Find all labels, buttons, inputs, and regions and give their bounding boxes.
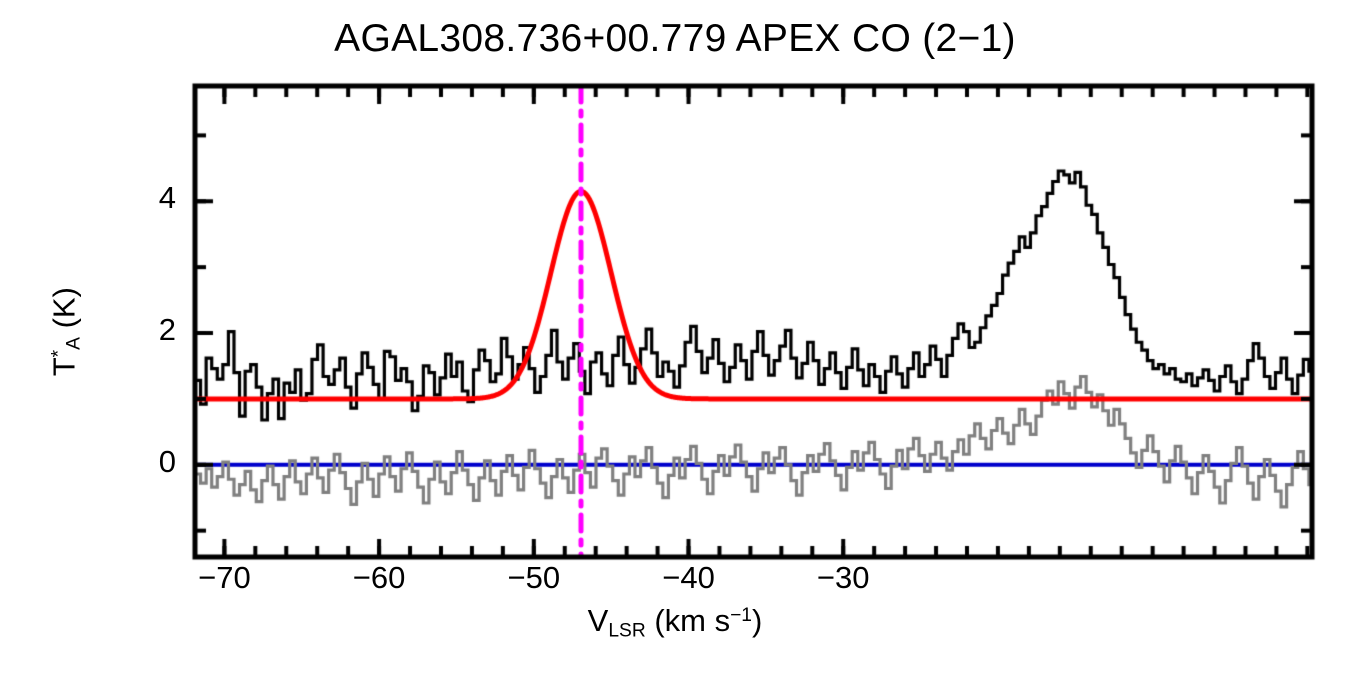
y-axis-label-subscript: A xyxy=(64,337,85,350)
x-tick-label: −60 xyxy=(309,560,449,596)
page-title: AGAL308.736+00.779 APEX CO (2−1) xyxy=(0,17,1350,61)
x-axis-label-main: V xyxy=(588,603,609,638)
y-axis-label: T*A (K) xyxy=(46,202,85,462)
x-axis-label: VLSR (km s−1) xyxy=(0,603,1350,642)
y-tick-label: 4 xyxy=(120,180,176,216)
x-axis-label-unit-pre: (km s xyxy=(646,603,730,638)
x-axis-label-unit-post: ) xyxy=(752,603,762,638)
x-tick-label: −70 xyxy=(154,560,294,596)
y-axis-label-unit: (K) xyxy=(46,287,81,337)
x-axis-label-sub: LSR xyxy=(608,620,645,641)
x-tick-label: −40 xyxy=(619,560,759,596)
x-tick-label: −30 xyxy=(773,560,913,596)
y-axis-label-superscript: * xyxy=(48,350,69,357)
y-tick-label: 0 xyxy=(120,444,176,480)
x-tick-label: −50 xyxy=(464,560,604,596)
y-axis-label-main: T xyxy=(46,357,81,376)
x-axis-label-unit-exponent: −1 xyxy=(730,605,752,626)
spectrum-figure: AGAL308.736+00.779 APEX CO (2−1) VLSR (k… xyxy=(0,0,1350,675)
y-tick-label: 2 xyxy=(120,312,176,348)
